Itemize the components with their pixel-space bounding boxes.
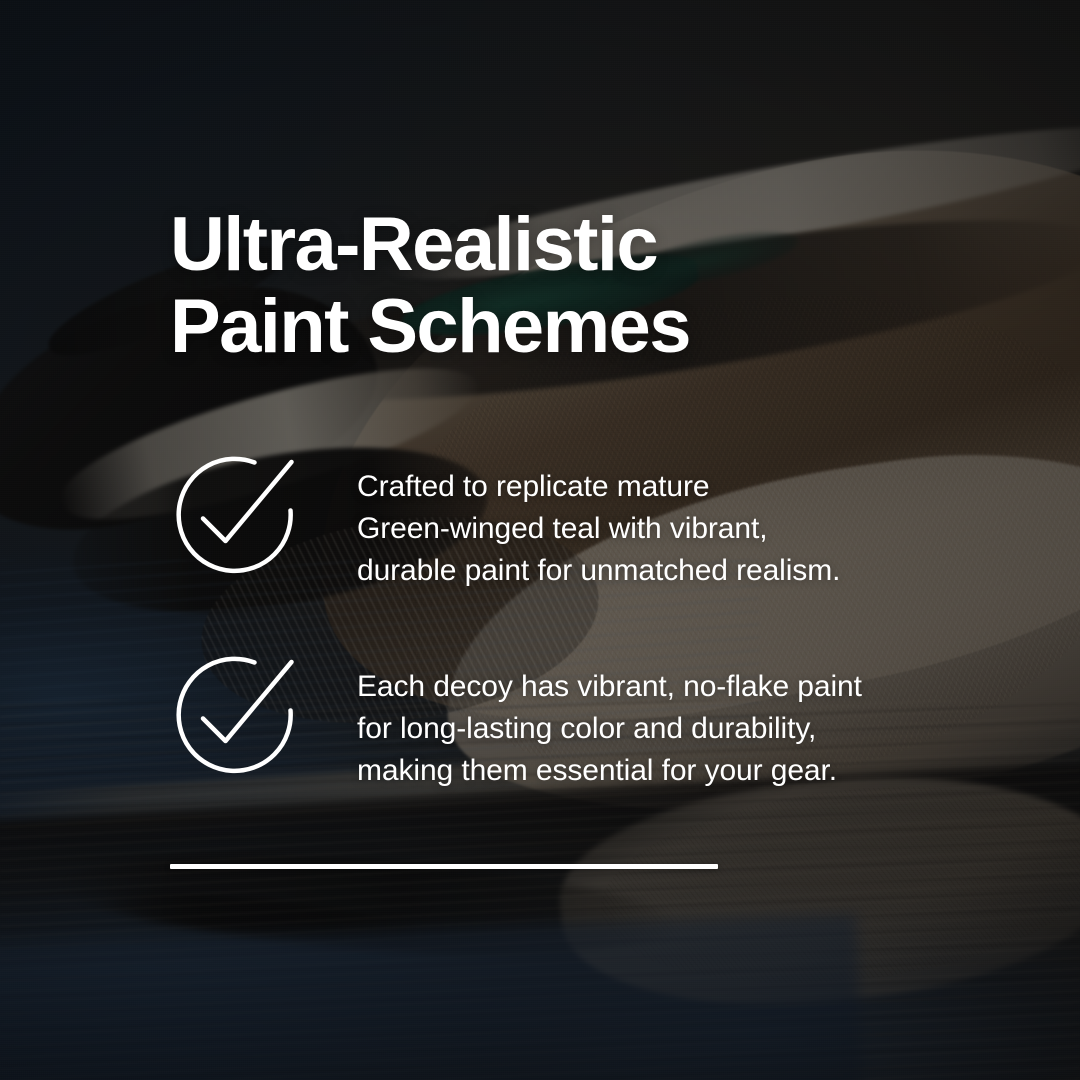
promo-banner: Ultra-Realistic Paint Schemes Crafted to…	[0, 0, 1080, 1080]
check-circle-icon	[172, 652, 296, 776]
feature-item-1: Crafted to replicate mature Green-winged…	[172, 452, 840, 592]
divider-rule	[170, 864, 718, 869]
feature-text-2: Each decoy has vibrant, no-flake paint f…	[296, 652, 862, 792]
page-title: Ultra-Realistic Paint Schemes	[170, 204, 690, 368]
feature-text-1: Crafted to replicate mature Green-winged…	[296, 452, 840, 592]
check-circle-icon	[172, 452, 296, 576]
banner-content: Ultra-Realistic Paint Schemes Crafted to…	[0, 0, 1080, 1080]
feature-item-2: Each decoy has vibrant, no-flake paint f…	[172, 652, 862, 792]
